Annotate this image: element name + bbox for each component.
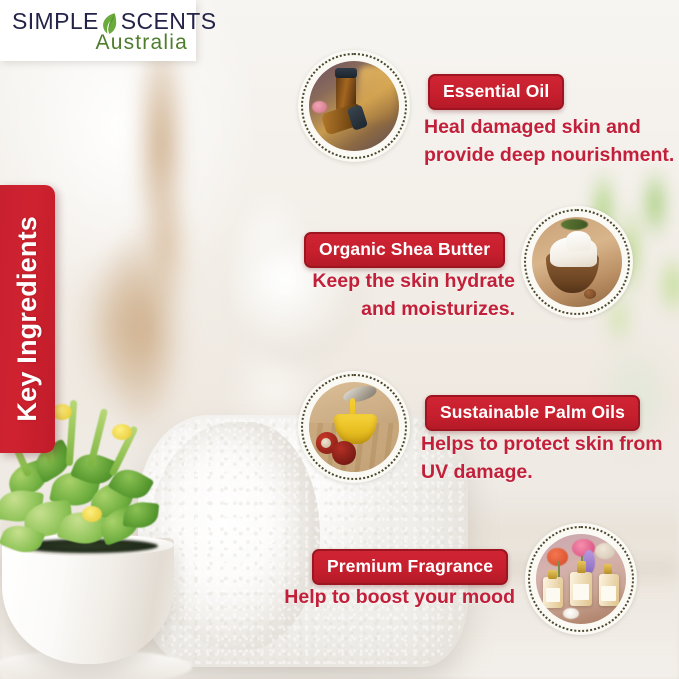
feature-badge-essential-oil[interactable]: Essential Oil [428,74,564,110]
fragrance-photo-circle[interactable] [525,523,637,635]
infographic-canvas: SIMPLE SCENTS Australia Key Ingredients [0,0,679,679]
key-ingredients-banner-label: Key Ingredients [12,216,43,422]
feature-desc-shea-butter-line1: Keep the skin hydrate [215,268,515,296]
essential-oil-photo-circle[interactable] [298,50,410,162]
feature-badge-premium-fragrance[interactable]: Premium Fragrance [312,549,508,585]
feature-desc-palm-oils-line2: UV damage. [421,459,533,487]
fragrance-photo [536,534,626,624]
key-ingredients-banner: Key Ingredients [0,185,55,453]
brand-country: Australia [12,32,194,53]
shea-butter-photo-circle[interactable] [521,206,633,318]
feature-desc-essential-oil-line2: provide deep nourishment. [424,142,674,170]
feature-badge-organic-shea-butter[interactable]: Organic Shea Butter [304,232,505,268]
shea-butter-photo [532,217,622,307]
feature-desc-essential-oil-line1: Heal damaged skin and [424,114,641,142]
brand-name-part1: SIMPLE [12,10,99,33]
brand-name-part2: SCENTS [121,10,217,33]
plant-flower [82,506,102,522]
feature-desc-shea-butter-line2: and moisturizes. [215,296,515,324]
plant-flower [52,404,72,420]
palm-oil-photo-circle[interactable] [298,371,410,483]
plant-flower [112,424,132,440]
feature-desc-premium-fragrance-line1: Help to boost your mood [220,584,515,612]
feature-desc-palm-oils-line1: Helps to protect skin from [421,431,663,459]
brand-logo[interactable]: SIMPLE SCENTS Australia [0,0,196,61]
palm-oil-photo [309,382,399,472]
essential-oil-photo [309,61,399,151]
feature-badge-sustainable-palm-oils[interactable]: Sustainable Palm Oils [425,395,640,431]
